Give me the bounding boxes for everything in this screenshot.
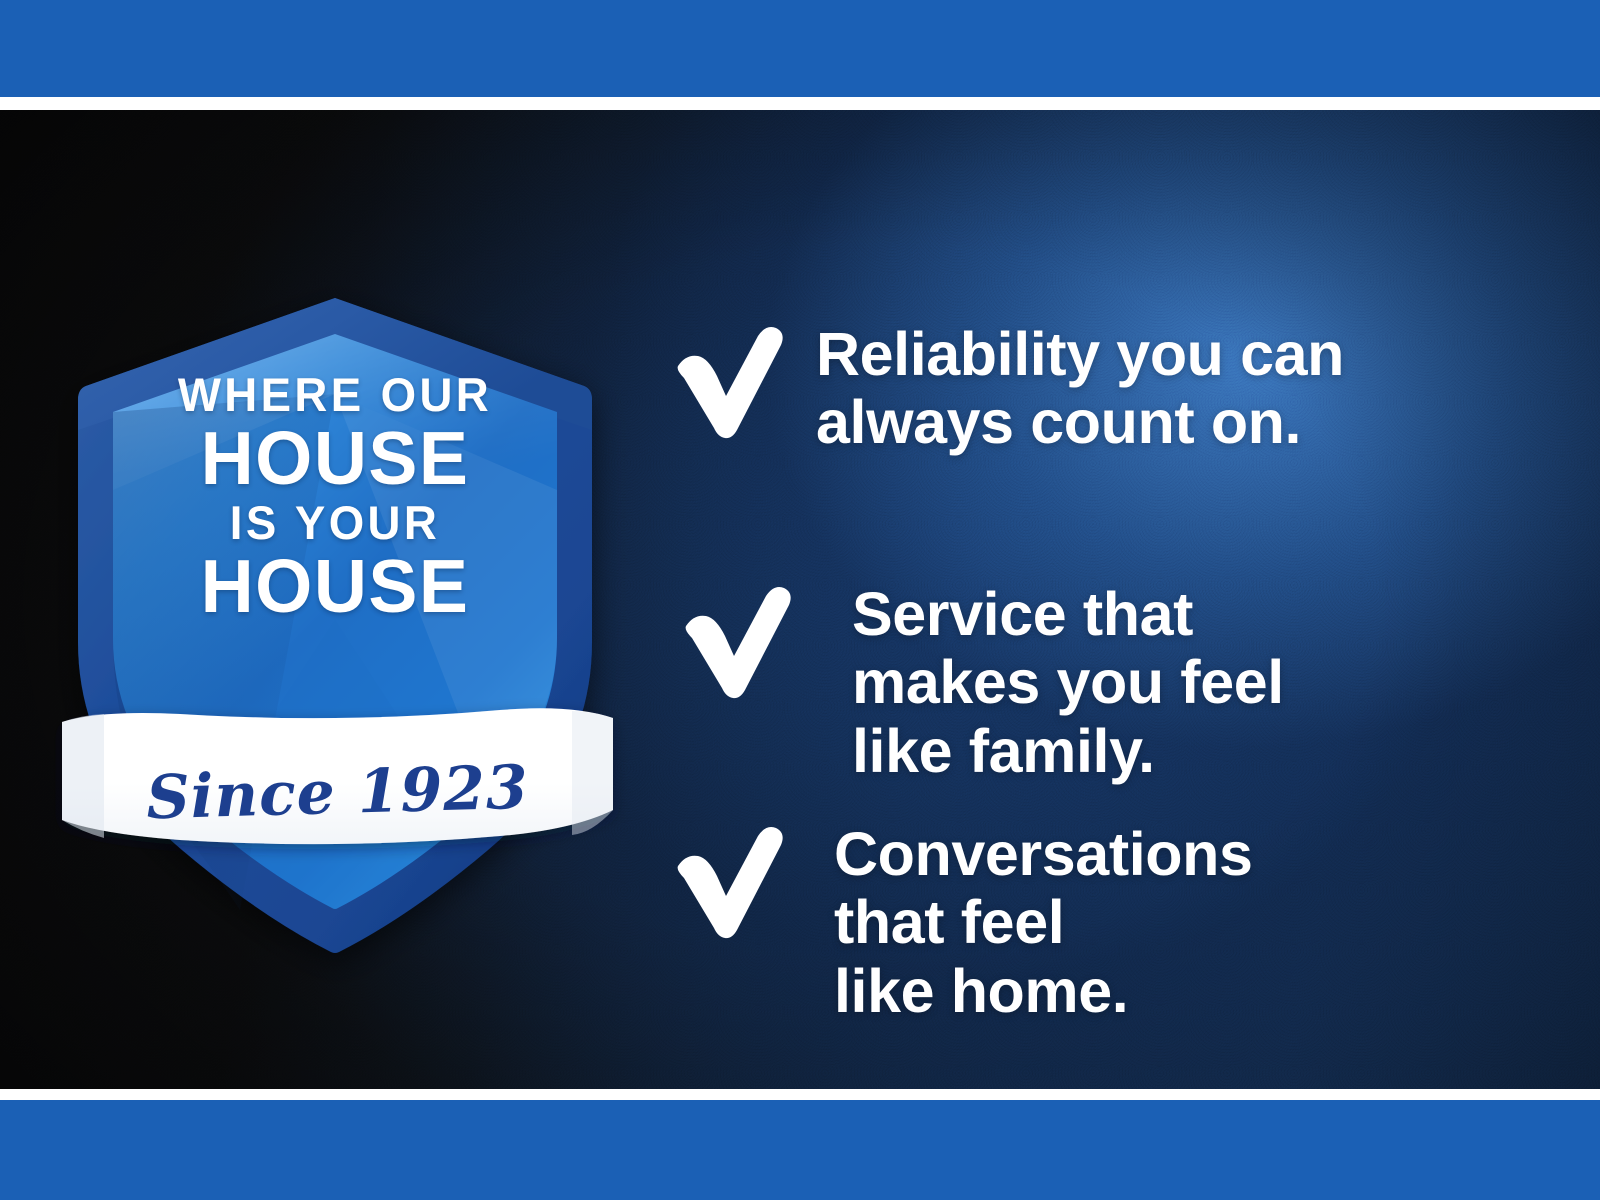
shield-inner-face	[70, 290, 600, 930]
checkmark-icon	[672, 322, 792, 442]
main-canvas: Where our House is your House	[0, 110, 1600, 1089]
checkmark-icon	[672, 822, 792, 942]
promo-graphic: Where our House is your House	[0, 0, 1600, 1200]
checklist-item: Conversations that feel like home.	[672, 820, 1253, 1025]
checklist-item-text: Conversations that feel like home.	[834, 820, 1253, 1025]
top-white-rule	[0, 97, 1600, 110]
bottom-brand-band	[0, 1100, 1600, 1200]
checkmark-icon	[680, 582, 800, 702]
checklist-item: Service that makes you feel like family.	[680, 580, 1284, 785]
top-brand-band	[0, 0, 1600, 97]
checklist-item-text: Reliability you can always count on.	[816, 320, 1344, 457]
bottom-white-rule	[0, 1089, 1600, 1100]
checklist-item-text: Service that makes you feel like family.	[852, 580, 1284, 785]
checklist-item: Reliability you can always count on.	[672, 320, 1344, 457]
shield-badge: Where our House is your House	[70, 290, 600, 930]
